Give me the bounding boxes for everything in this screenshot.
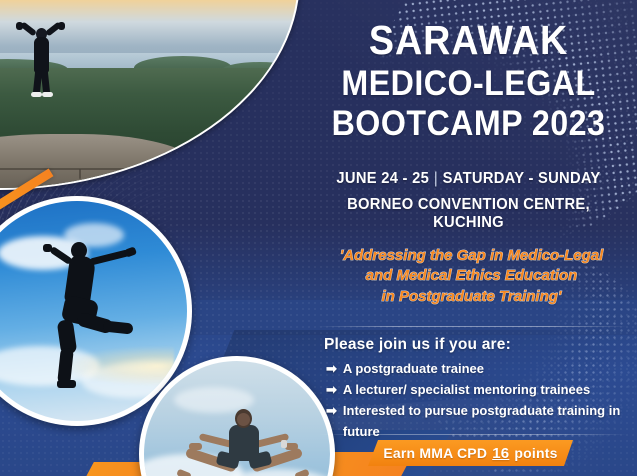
list-item: ➡ A lecturer/ specialist mentoring train… xyxy=(326,379,631,400)
audience-heading: Please join us if you are: xyxy=(324,336,511,354)
split-jump-figure xyxy=(177,409,309,476)
list-item: ➡ A postgraduate trainee xyxy=(326,358,631,379)
arrow-right-icon: ➡ xyxy=(326,383,337,396)
arrow-right-icon: ➡ xyxy=(326,362,337,375)
divider-above-audience xyxy=(318,326,627,327)
page-title-line-3: BOOTCAMP 2023 xyxy=(319,106,618,141)
sunrise-artwork xyxy=(0,0,298,188)
cpd-points-badge: Earn MMA CPD 16 points xyxy=(368,440,573,466)
list-item-label: A postgraduate trainee xyxy=(343,358,484,379)
sunrise-summit-photo xyxy=(0,0,298,188)
poster-canvas: SARAWAK MEDICO-LEGAL BOOTCAMP 2023 JUNE … xyxy=(0,0,637,476)
jumping-figure xyxy=(37,236,147,396)
tagline-line-2: and Medical Ethics Education xyxy=(314,266,629,286)
event-date-line: JUNE 24 - 25|SATURDAY - SUNDAY xyxy=(314,170,623,188)
audience-list: ➡ A postgraduate trainee ➡ A lecturer/ s… xyxy=(326,358,631,442)
page-title-line-1: SARAWAK xyxy=(319,20,618,61)
summit-figure xyxy=(8,20,72,98)
divider-above-cpd xyxy=(318,434,627,435)
event-venue: BORNEO CONVENTION CENTRE, KUCHING xyxy=(314,196,623,232)
event-dates: JUNE 24 - 25 xyxy=(336,170,429,187)
list-item-label: Interested to pursue postgraduate traini… xyxy=(343,400,631,442)
cpd-suffix: points xyxy=(514,445,557,461)
cpd-points-value: 16 xyxy=(491,445,510,462)
list-item-label: A lecturer/ specialist mentoring trainee… xyxy=(343,379,590,400)
list-item: ➡ Interested to pursue postgraduate trai… xyxy=(326,400,631,442)
date-separator: | xyxy=(429,170,443,187)
tagline-line-1: 'Addressing the Gap in Medico-Legal xyxy=(314,246,629,266)
event-theme-tagline: 'Addressing the Gap in Medico-Legal and … xyxy=(314,246,629,307)
cpd-badge-text: Earn MMA CPD 16 points xyxy=(383,445,557,462)
text-column: SARAWAK MEDICO-LEGAL BOOTCAMP 2023 JUNE … xyxy=(306,0,637,476)
arrow-right-icon: ➡ xyxy=(326,404,337,417)
event-days: SATURDAY - SUNDAY xyxy=(443,170,601,187)
cpd-prefix: Earn MMA CPD xyxy=(383,445,487,461)
split-jump-photo xyxy=(144,361,330,476)
tagline-line-3: in Postgraduate Training' xyxy=(314,287,629,307)
page-title-line-2: MEDICO-LEGAL xyxy=(319,66,618,101)
